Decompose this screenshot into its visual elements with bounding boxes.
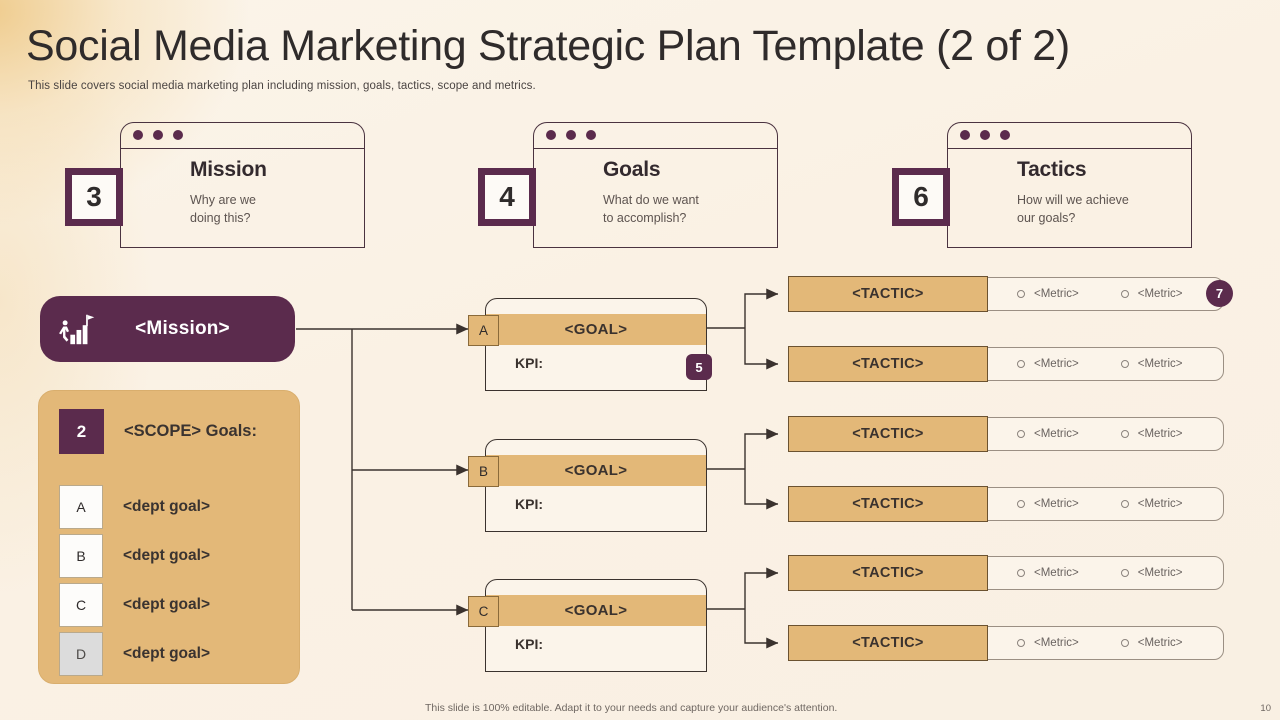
page-number: 10 xyxy=(1260,703,1271,714)
metric-container: <Metric> <Metric> xyxy=(984,277,1224,311)
goal-letter-badge: C xyxy=(468,596,499,627)
metric-item[interactable]: <Metric> xyxy=(1121,428,1183,440)
desc-line: What do we want xyxy=(603,191,699,209)
metric-container: <Metric> <Metric> xyxy=(984,487,1224,521)
slide-canvas: Social Media Marketing Strategic Plan Te… xyxy=(0,0,1280,720)
goal-letter-badge: B xyxy=(468,456,499,487)
window-dot-icon xyxy=(153,130,163,140)
scope-item-d[interactable]: D <dept goal> xyxy=(59,632,210,676)
metric-label: <Metric> xyxy=(1138,498,1183,510)
tactic-row[interactable]: <TACTIC> <Metric> <Metric> xyxy=(788,555,1224,591)
metric-container: <Metric> <Metric> xyxy=(984,417,1224,451)
bullet-icon xyxy=(1121,430,1129,438)
scope-heading: <SCOPE> Goals: xyxy=(124,422,257,441)
metric-item[interactable]: <Metric> xyxy=(1121,567,1183,579)
scope-item-a[interactable]: A <dept goal> xyxy=(59,485,210,529)
goal-step-badge: 5 xyxy=(686,354,712,380)
metric-container: <Metric> <Metric> xyxy=(984,626,1224,660)
mission-label: <Mission> xyxy=(96,318,295,340)
desc-line: doing this? xyxy=(190,209,256,227)
tactic-step-badge: 7 xyxy=(1206,280,1233,307)
metric-label: <Metric> xyxy=(1138,567,1183,579)
mission-pill[interactable]: <Mission> xyxy=(40,296,295,362)
metric-label: <Metric> xyxy=(1138,288,1183,300)
metric-label: <Metric> xyxy=(1034,288,1079,300)
metric-container: <Metric> <Metric> xyxy=(984,347,1224,381)
desc-line: to accomplish? xyxy=(603,209,699,227)
tactic-label: <TACTIC> xyxy=(788,346,988,382)
header-card-goals[interactable]: Goals What do we want to accomplish? 4 xyxy=(533,122,778,248)
scope-item-label: <dept goal> xyxy=(123,645,210,663)
window-dots xyxy=(546,130,596,140)
goal-card-c[interactable]: <GOAL> C KPI: xyxy=(485,579,707,672)
metric-item[interactable]: <Metric> xyxy=(1017,498,1079,510)
growth-chart-climber-icon xyxy=(58,310,96,348)
metric-item[interactable]: <Metric> xyxy=(1121,288,1183,300)
scope-item-label: <dept goal> xyxy=(123,596,210,614)
tactic-label: <TACTIC> xyxy=(788,625,988,661)
bullet-icon xyxy=(1017,639,1025,647)
window-dot-icon xyxy=(1000,130,1010,140)
metric-label: <Metric> xyxy=(1138,358,1183,370)
header-card-description: Why are we doing this? xyxy=(190,191,256,227)
tactic-label: <TACTIC> xyxy=(788,486,988,522)
header-card-number-badge: 4 xyxy=(478,168,536,226)
scope-number-badge: 2 xyxy=(59,409,104,454)
window-titlebar xyxy=(948,123,1191,149)
metric-item[interactable]: <Metric> xyxy=(1017,358,1079,370)
footer-note: This slide is 100% editable. Adapt it to… xyxy=(425,702,837,714)
tactic-label: <TACTIC> xyxy=(788,276,988,312)
window-dots xyxy=(133,130,183,140)
tactic-row[interactable]: <TACTIC> <Metric> <Metric> xyxy=(788,346,1224,382)
metric-item[interactable]: <Metric> xyxy=(1017,288,1079,300)
metric-container: <Metric> <Metric> xyxy=(984,556,1224,590)
header-card-title: Tactics xyxy=(1017,158,1086,182)
metric-label: <Metric> xyxy=(1034,567,1079,579)
scope-letter-chip: C xyxy=(59,583,103,627)
header-card-title: Goals xyxy=(603,158,660,182)
scope-goals-panel: 2 <SCOPE> Goals: A <dept goal> B <dept g… xyxy=(38,390,300,684)
goal-letter-badge: A xyxy=(468,315,499,346)
desc-line: Why are we xyxy=(190,191,256,209)
metric-item[interactable]: <Metric> xyxy=(1017,637,1079,649)
goal-title: <GOAL> xyxy=(486,595,706,626)
desc-line: How will we achieve xyxy=(1017,191,1129,209)
header-card-number-badge: 6 xyxy=(892,168,950,226)
bullet-icon xyxy=(1017,569,1025,577)
window-frame xyxy=(120,122,365,248)
bullet-icon xyxy=(1121,500,1129,508)
metric-label: <Metric> xyxy=(1034,498,1079,510)
window-dot-icon xyxy=(173,130,183,140)
goal-kpi-label: KPI: xyxy=(515,355,543,371)
goal-kpi-label: KPI: xyxy=(515,636,543,652)
metric-item[interactable]: <Metric> xyxy=(1121,358,1183,370)
header-card-number-badge: 3 xyxy=(65,168,123,226)
bullet-icon xyxy=(1017,360,1025,368)
header-card-mission[interactable]: Mission Why are we doing this? 3 xyxy=(120,122,365,248)
bullet-icon xyxy=(1017,500,1025,508)
header-card-description: How will we achieve our goals? xyxy=(1017,191,1129,227)
metric-item[interactable]: <Metric> xyxy=(1121,498,1183,510)
window-dot-icon xyxy=(960,130,970,140)
metric-label: <Metric> xyxy=(1034,358,1079,370)
tactic-label: <TACTIC> xyxy=(788,555,988,591)
bullet-icon xyxy=(1017,290,1025,298)
window-dot-icon xyxy=(546,130,556,140)
scope-item-c[interactable]: C <dept goal> xyxy=(59,583,210,627)
window-frame xyxy=(533,122,778,248)
window-dot-icon xyxy=(980,130,990,140)
bullet-icon xyxy=(1121,639,1129,647)
scope-item-label: <dept goal> xyxy=(123,547,210,565)
page-title: Social Media Marketing Strategic Plan Te… xyxy=(26,24,1070,69)
header-card-tactics[interactable]: Tactics How will we achieve our goals? 6 xyxy=(947,122,1192,248)
metric-label: <Metric> xyxy=(1034,637,1079,649)
goal-kpi-label: KPI: xyxy=(515,496,543,512)
goal-card-b[interactable]: <GOAL> B KPI: xyxy=(485,439,707,532)
metric-label: <Metric> xyxy=(1138,428,1183,440)
bullet-icon xyxy=(1017,430,1025,438)
window-titlebar xyxy=(534,123,777,149)
page-subtitle: This slide covers social media marketing… xyxy=(28,80,536,92)
desc-line: our goals? xyxy=(1017,209,1129,227)
window-dot-icon xyxy=(566,130,576,140)
metric-label: <Metric> xyxy=(1138,637,1183,649)
goal-title: <GOAL> xyxy=(486,314,706,345)
window-frame xyxy=(947,122,1192,248)
metric-item[interactable]: <Metric> xyxy=(1017,428,1079,440)
scope-item-label: <dept goal> xyxy=(123,498,210,516)
metric-item[interactable]: <Metric> xyxy=(1017,567,1079,579)
scope-letter-chip: D xyxy=(59,632,103,676)
window-dot-icon xyxy=(133,130,143,140)
bullet-icon xyxy=(1121,290,1129,298)
metric-label: <Metric> xyxy=(1034,428,1079,440)
header-card-description: What do we want to accomplish? xyxy=(603,191,699,227)
scope-letter-chip: B xyxy=(59,534,103,578)
metric-item[interactable]: <Metric> xyxy=(1121,637,1183,649)
window-dot-icon xyxy=(586,130,596,140)
tactic-row[interactable]: <TACTIC> <Metric> <Metric> xyxy=(788,625,1224,661)
tactic-row[interactable]: <TACTIC> <Metric> <Metric> xyxy=(788,486,1224,522)
window-titlebar xyxy=(121,123,364,149)
tactic-label: <TACTIC> xyxy=(788,416,988,452)
scope-letter-chip: A xyxy=(59,485,103,529)
tactic-row[interactable]: <TACTIC> <Metric> <Metric> 7 xyxy=(788,276,1224,312)
header-card-title: Mission xyxy=(190,158,267,182)
goal-card-a[interactable]: <GOAL> A KPI: 5 xyxy=(485,298,707,391)
bullet-icon xyxy=(1121,569,1129,577)
tactic-row[interactable]: <TACTIC> <Metric> <Metric> xyxy=(788,416,1224,452)
scope-item-b[interactable]: B <dept goal> xyxy=(59,534,210,578)
goal-title: <GOAL> xyxy=(486,455,706,486)
window-dots xyxy=(960,130,1010,140)
scope-header: 2 <SCOPE> Goals: xyxy=(59,409,257,454)
bullet-icon xyxy=(1121,360,1129,368)
